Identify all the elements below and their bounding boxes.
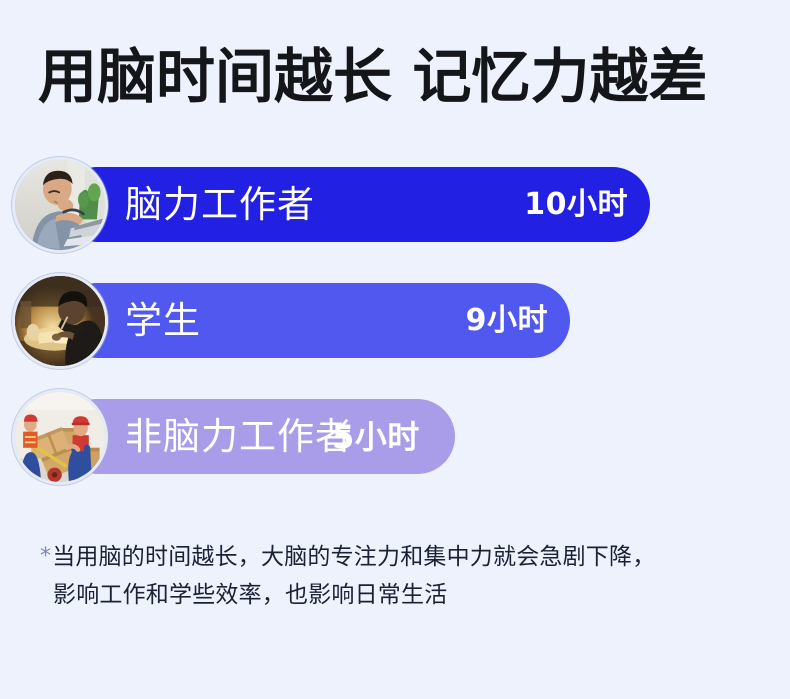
bar-value: 9小时 [466, 304, 548, 338]
footnote: *当用脑的时间越长，大脑的专注力和集中力就会急剧下降， 影响工作和学些效率，也影… [40, 538, 770, 614]
asterisk-marker: * [40, 544, 51, 569]
bar-label: 学生 [125, 301, 201, 341]
footnote-text-1: 当用脑的时间越长，大脑的专注力和集中力就会急剧下降， [52, 544, 655, 570]
chart-row: 非脑力工作者 5小时 [0, 384, 790, 490]
page-title: 用脑时间越长 记忆力越差 [38, 40, 708, 114]
bar-brain-worker: 脑力工作者 10小时 [60, 167, 650, 242]
footnote-text-2: 影响工作和学些效率，也影响日常生活 [40, 576, 770, 614]
footnote-line-1: *当用脑的时间越长，大脑的专注力和集中力就会急剧下降， [40, 538, 770, 576]
student-studying-photo [12, 273, 108, 369]
bar-label: 脑力工作者 [125, 185, 315, 225]
bar-label: 非脑力工作者 [125, 417, 353, 457]
bar-student: 学生 9小时 [60, 283, 570, 358]
chart-row: 脑力工作者 10小时 [0, 152, 790, 258]
bar-chart: 脑力工作者 10小时 [0, 152, 790, 512]
movers-with-boxes-photo [12, 389, 108, 485]
chart-row: 学生 9小时 [0, 268, 790, 374]
bar-non-brain-worker: 非脑力工作者 5小时 [60, 399, 455, 474]
tired-office-worker-photo [12, 157, 108, 253]
bar-value: 10小时 [524, 188, 628, 222]
bar-value: 5小时 [332, 420, 420, 454]
infographic-poster: 用脑时间越长 记忆力越差 脑力工作者 10小时 [0, 0, 790, 699]
